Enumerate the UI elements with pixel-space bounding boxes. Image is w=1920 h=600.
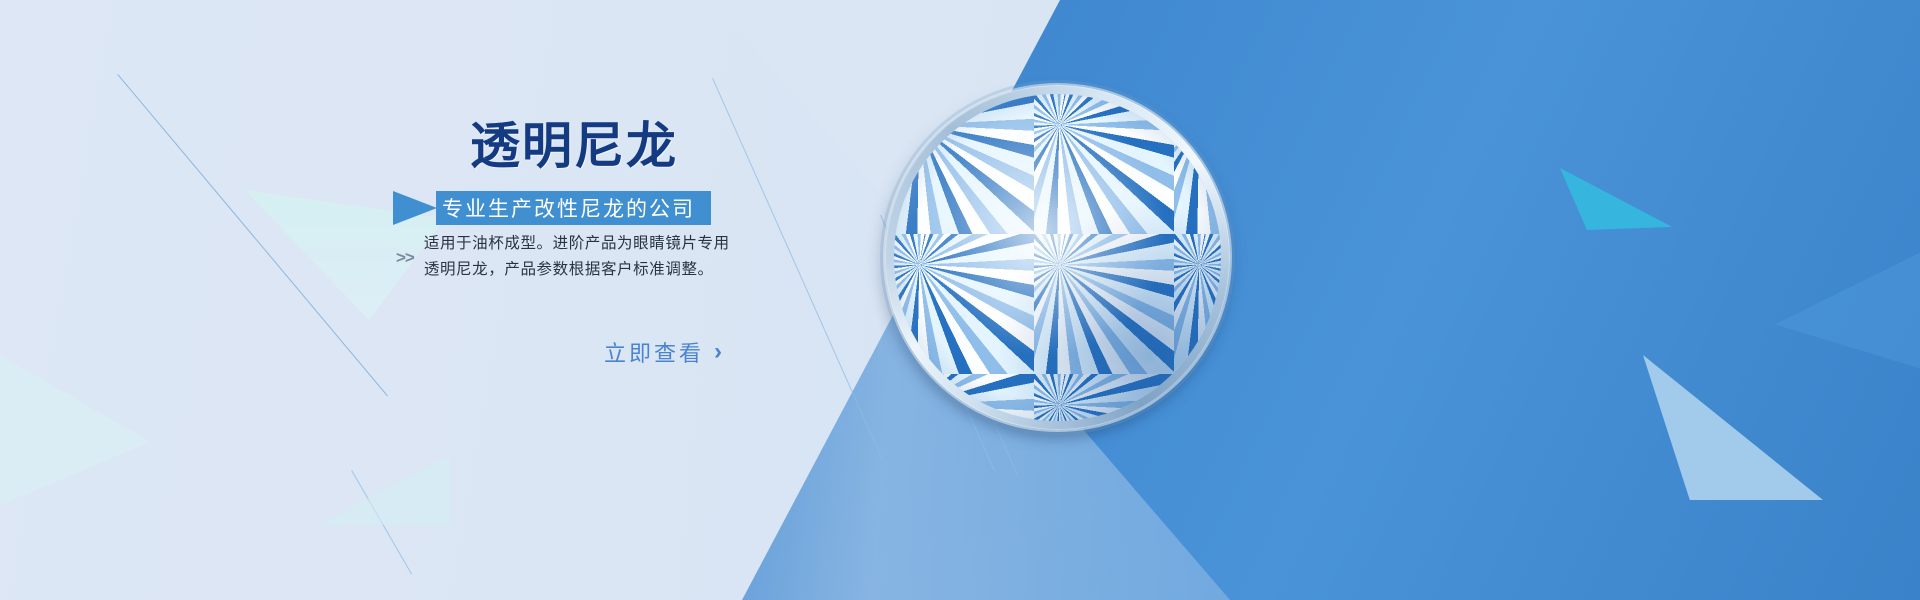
ribbon-arrow-icon — [393, 191, 437, 225]
banner-title: 透明尼龙 — [470, 121, 678, 171]
dish-contents — [894, 94, 1221, 421]
pellets-lighting-mask — [894, 94, 1221, 421]
view-now-button[interactable]: 立即查看 › — [604, 336, 722, 368]
chevron-right-icon: › — [714, 340, 722, 364]
description-text: 适用于油杯成型。进阶产品为眼睛镜片专用透明尼龙，产品参数根据客户标准调整。 — [424, 231, 744, 283]
subtitle-ribbon: 专业生产改性尼龙的公司 — [393, 191, 711, 225]
ribbon-body: 专业生产改性尼龙的公司 — [436, 191, 711, 225]
view-now-label: 立即查看 — [604, 336, 704, 368]
product-image-petri-dish — [885, 85, 1230, 430]
promo-banner: 透明尼龙 专业生产改性尼龙的公司 >> 适用于油杯成型。进阶产品为眼睛镜片专用透… — [0, 0, 1920, 600]
description-block: >> 适用于油杯成型。进阶产品为眼睛镜片专用透明尼龙，产品参数根据客户标准调整。 — [396, 231, 744, 283]
banner-content: 透明尼龙 专业生产改性尼龙的公司 >> 适用于油杯成型。进阶产品为眼睛镜片专用透… — [0, 0, 780, 600]
subtitle-text: 专业生产改性尼龙的公司 — [442, 193, 695, 223]
double-chevron-icon: >> — [396, 249, 414, 266]
